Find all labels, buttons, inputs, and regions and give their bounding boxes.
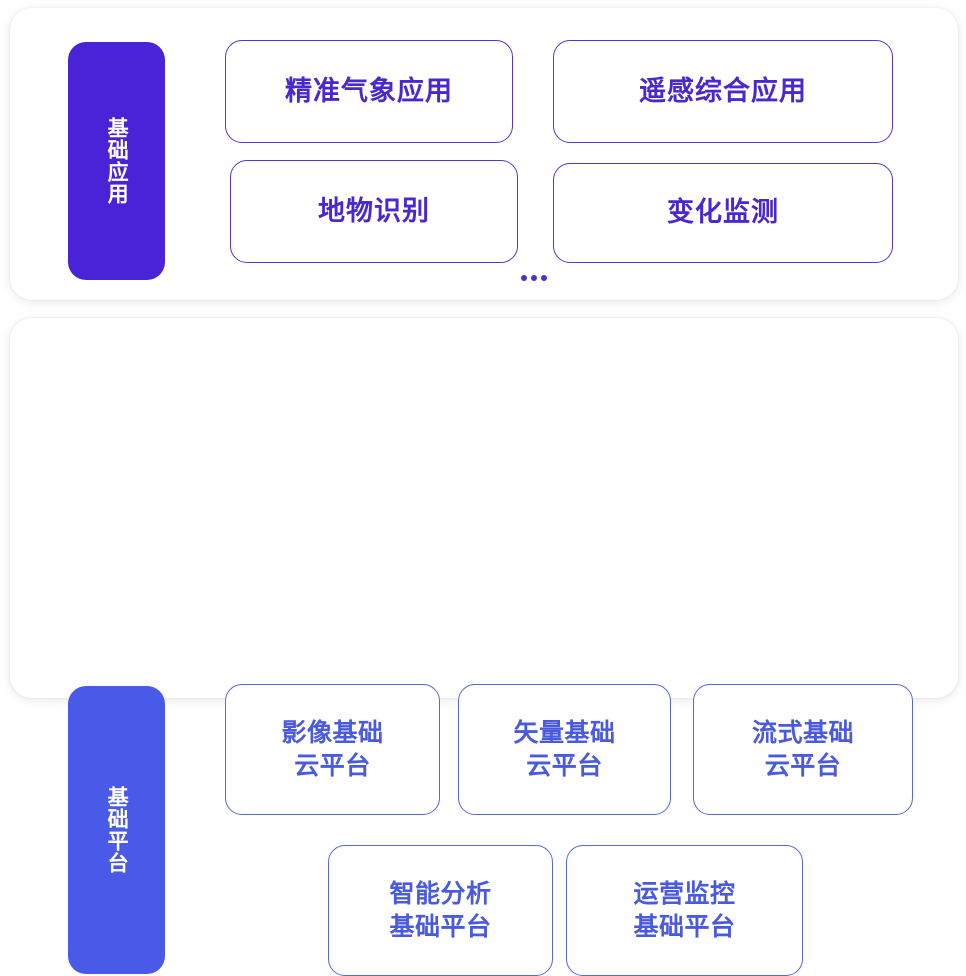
platform-item-label: 运营监控 基础平台 (633, 878, 735, 943)
app-item-precise-weather[interactable]: 精准气象应用 (225, 40, 513, 143)
app-item-change-detection[interactable]: 变化监测 (553, 163, 893, 263)
platform-item-intelligent-analysis[interactable]: 智能分析 基础平台 (328, 845, 553, 976)
platform-item-label: 智能分析 基础平台 (389, 878, 491, 943)
panel-basic-applications: 基础应用 精准气象应用 遥感综合应用 地物识别 变化监测 (10, 8, 958, 300)
more-items-ellipsis-icon (515, 268, 553, 288)
section-tab-basic-platform[interactable]: 基础平台 (68, 686, 165, 974)
platform-item-image-cloud[interactable]: 影像基础 云平台 (225, 684, 440, 815)
diagram-canvas: 基础应用 精准气象应用 遥感综合应用 地物识别 变化监测 基础平台 影像基础 云… (0, 0, 966, 706)
app-item-remote-sensing[interactable]: 遥感综合应用 (553, 40, 893, 143)
platform-item-streaming-cloud[interactable]: 流式基础 云平台 (693, 684, 913, 815)
section-tab-label: 基础平台 (103, 786, 130, 874)
platform-item-label: 影像基础 云平台 (281, 717, 383, 782)
ellipsis-dot (521, 275, 527, 281)
platform-item-operations-monitoring[interactable]: 运营监控 基础平台 (566, 845, 803, 976)
app-item-label: 精准气象应用 (285, 74, 453, 109)
app-item-label: 变化监测 (667, 195, 779, 230)
section-tab-label: 基础应用 (103, 117, 130, 205)
app-item-feature-recognition[interactable]: 地物识别 (230, 160, 518, 263)
platform-item-vector-cloud[interactable]: 矢量基础 云平台 (458, 684, 671, 815)
app-item-label: 遥感综合应用 (639, 74, 807, 109)
ellipsis-dot (531, 275, 537, 281)
platform-item-label: 流式基础 云平台 (752, 717, 854, 782)
app-item-label: 地物识别 (318, 194, 430, 229)
panel-basic-platform: 基础平台 影像基础 云平台 矢量基础 云平台 流式基础 云平台 智能分析 基础平… (10, 318, 958, 698)
section-tab-basic-applications[interactable]: 基础应用 (68, 42, 165, 280)
platform-item-label: 矢量基础 云平台 (513, 717, 615, 782)
ellipsis-dot (541, 275, 547, 281)
